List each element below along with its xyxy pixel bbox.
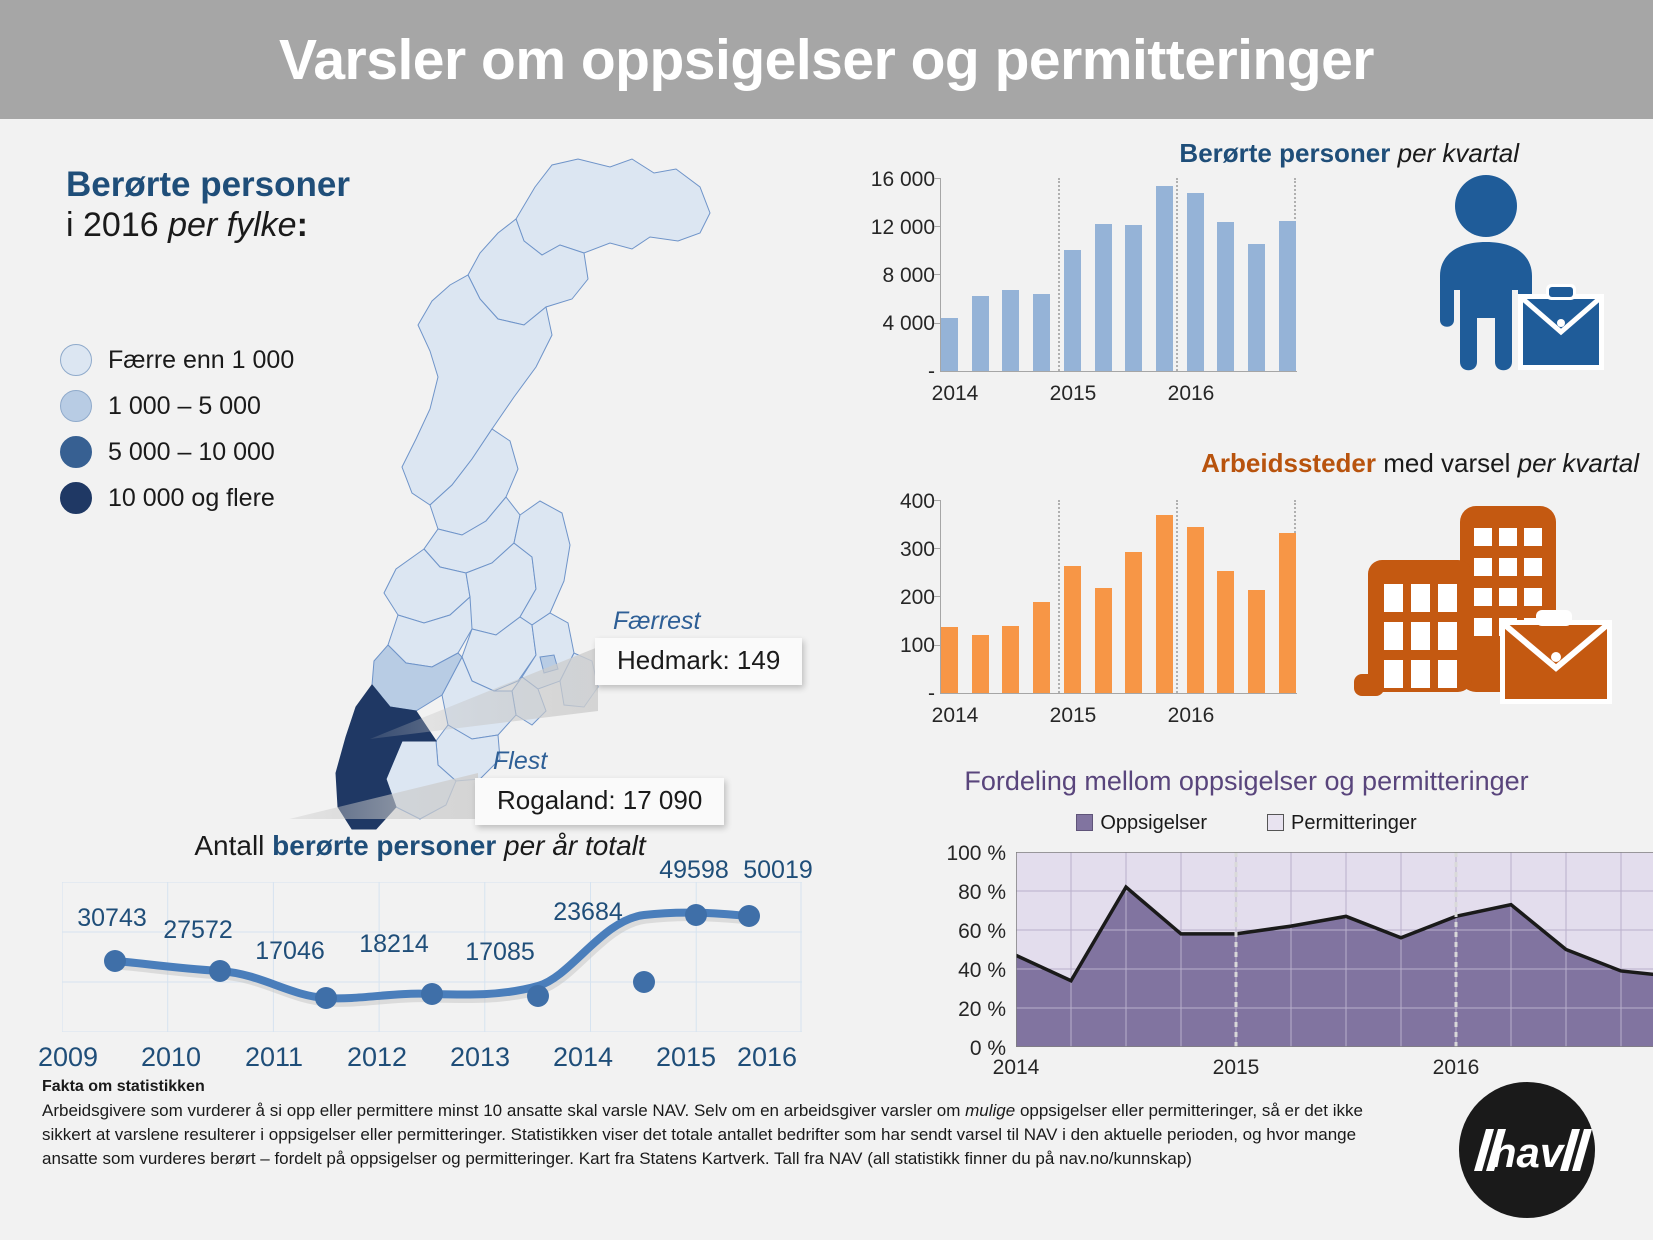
y-tick: 20 % [916, 998, 1006, 1022]
callout-most: Flest Rogaland: 17 090 [475, 747, 724, 825]
bar-series [941, 178, 1296, 371]
callout-kicker: Færrest [613, 607, 802, 636]
x-axis-line [940, 693, 1297, 694]
y-axis-tick-mark [934, 178, 941, 179]
office-building-with-envelope-icon [1340, 492, 1630, 707]
bar [1002, 290, 1019, 371]
y-tick: 80 % [916, 881, 1006, 905]
bar [1279, 221, 1296, 371]
bar [1064, 566, 1081, 693]
legend-item: Permitteringer [1267, 812, 1417, 835]
y-axis-tick-mark [934, 226, 941, 227]
bar [1217, 222, 1234, 371]
data-label: 23684 [528, 898, 648, 927]
chart-legend: Oppsigelser Permitteringer [840, 812, 1653, 835]
plot-area [941, 178, 1296, 371]
bar [1156, 186, 1173, 371]
chart-title: Fordeling mellom oppsigelser og permitte… [840, 766, 1653, 797]
data-label: 18214 [334, 930, 454, 959]
footer-title: Fakta om statistikken [42, 1078, 1372, 1096]
y-tick: 100 % [916, 842, 1006, 866]
y-tick: 12 000 [840, 216, 935, 240]
x-tick: 2009 [13, 1042, 123, 1073]
chart-split-dismissals-layoffs: Fordeling mellom oppsigelser og permitte… [840, 760, 1653, 1080]
legend-swatch-icon [60, 436, 92, 468]
x-tick: 2011 [219, 1042, 329, 1073]
x-tick: 2013 [425, 1042, 535, 1073]
callout-value: Hedmark: 149 [595, 638, 802, 685]
bar [1248, 590, 1265, 693]
y-tick: 400 [840, 490, 935, 514]
page-title: Varsler om oppsigelser og permitteringer [279, 27, 1374, 93]
legend-swatch-icon [60, 344, 92, 376]
bar [1156, 515, 1173, 693]
callout-fewest: Færrest Hedmark: 149 [595, 607, 802, 685]
person-with-briefcase-icon [1368, 168, 1618, 388]
x-tick: 2016 [712, 1042, 822, 1073]
plot-area [941, 500, 1296, 693]
y-axis-tick-mark [934, 548, 941, 549]
bar-series [941, 500, 1296, 693]
x-axis-line [940, 371, 1297, 372]
chart-title: Arbeidssteder med varsel per kvartal [1201, 448, 1639, 479]
chart-persons-per-year: Antall berørte personer per år totalt [0, 820, 840, 1100]
y-tick: 8 000 [840, 264, 935, 288]
legend-swatch-icon [60, 390, 92, 422]
legend-swatch-icon [1076, 814, 1093, 831]
footer-line-3: vurderes berørt – fordelt på oppsigelser… [139, 1149, 1192, 1168]
y-tick: - [840, 682, 935, 706]
bar [1217, 571, 1234, 693]
bar [1095, 224, 1112, 371]
x-tick: 2014 [900, 704, 1010, 728]
y-tick: 300 [840, 538, 935, 562]
bar [1248, 244, 1265, 371]
map-panel: Berørte personer i 2016 per fylke: Færre… [0, 119, 840, 819]
chart-sites-per-quarter: Arbeidssteder med varsel per kvartal 400… [840, 440, 1653, 740]
svg-text:nav: nav [1491, 1129, 1566, 1176]
chart-persons-per-quarter: Berørte personer per kvartal 16 000 12 0… [840, 130, 1653, 430]
bar [1187, 527, 1204, 693]
x-tick: 2014 [900, 382, 1010, 406]
bar [1187, 193, 1204, 371]
y-tick: 16 000 [840, 168, 935, 192]
footer-body: Arbeidsgivere som vurderer å si opp elle… [42, 1099, 1372, 1171]
y-axis-tick-mark [934, 500, 941, 501]
nav-logo: nav [1452, 1075, 1602, 1225]
area-plot-svg [1016, 852, 1653, 1047]
callout-value: Rogaland: 17 090 [475, 778, 724, 825]
y-axis-tick-mark [934, 323, 941, 324]
county-finnmark [516, 159, 710, 255]
legend-swatch-icon [60, 482, 92, 514]
y-tick: - [840, 360, 935, 384]
x-tick: 2010 [116, 1042, 226, 1073]
x-tick: 2014 [971, 1056, 1061, 1080]
bar [1064, 250, 1081, 371]
x-tick: 2015 [1018, 382, 1128, 406]
legend-item-label: Oppsigelser [1100, 812, 1207, 834]
legend-item: Oppsigelser [1076, 812, 1207, 835]
legend-swatch-icon [1267, 814, 1284, 831]
footer-note: Fakta om statistikken Arbeidsgivere som … [42, 1078, 1372, 1171]
x-tick: 2015 [1191, 1056, 1281, 1080]
bar [972, 635, 989, 693]
x-tick: 2016 [1136, 382, 1246, 406]
data-label: 17046 [230, 937, 350, 966]
legend-item-label: Permitteringer [1291, 812, 1417, 834]
bar [972, 296, 989, 371]
callout-kicker: Flest [493, 747, 724, 776]
bar [1279, 533, 1296, 693]
bar [941, 627, 958, 693]
bar [1125, 225, 1142, 371]
bar [1033, 294, 1050, 371]
y-tick: 60 % [916, 920, 1006, 944]
bar [941, 318, 958, 371]
bar [1033, 602, 1050, 693]
page-header: Varsler om oppsigelser og permitteringer [0, 0, 1653, 119]
x-tick: 2014 [528, 1042, 638, 1073]
y-tick: 100 [840, 634, 935, 658]
envelope-icon [1500, 610, 1612, 704]
x-tick: 2015 [1018, 704, 1128, 728]
briefcase-icon [1518, 284, 1604, 370]
y-axis-tick-mark [934, 596, 941, 597]
y-tick: 4 000 [840, 312, 935, 336]
y-axis-tick-mark [934, 274, 941, 275]
bar [1125, 552, 1142, 693]
x-tick: 2012 [322, 1042, 432, 1073]
x-tick: 2016 [1136, 704, 1246, 728]
bar [1002, 626, 1019, 693]
chart-title: Berørte personer per kvartal [1179, 138, 1519, 169]
data-label: 50019 [718, 856, 838, 885]
bar [1095, 588, 1112, 693]
y-tick: 40 % [916, 959, 1006, 983]
y-axis-tick-mark [934, 645, 941, 646]
plot-area [1016, 852, 1653, 1047]
data-label: 17085 [440, 938, 560, 967]
y-tick: 200 [840, 586, 935, 610]
